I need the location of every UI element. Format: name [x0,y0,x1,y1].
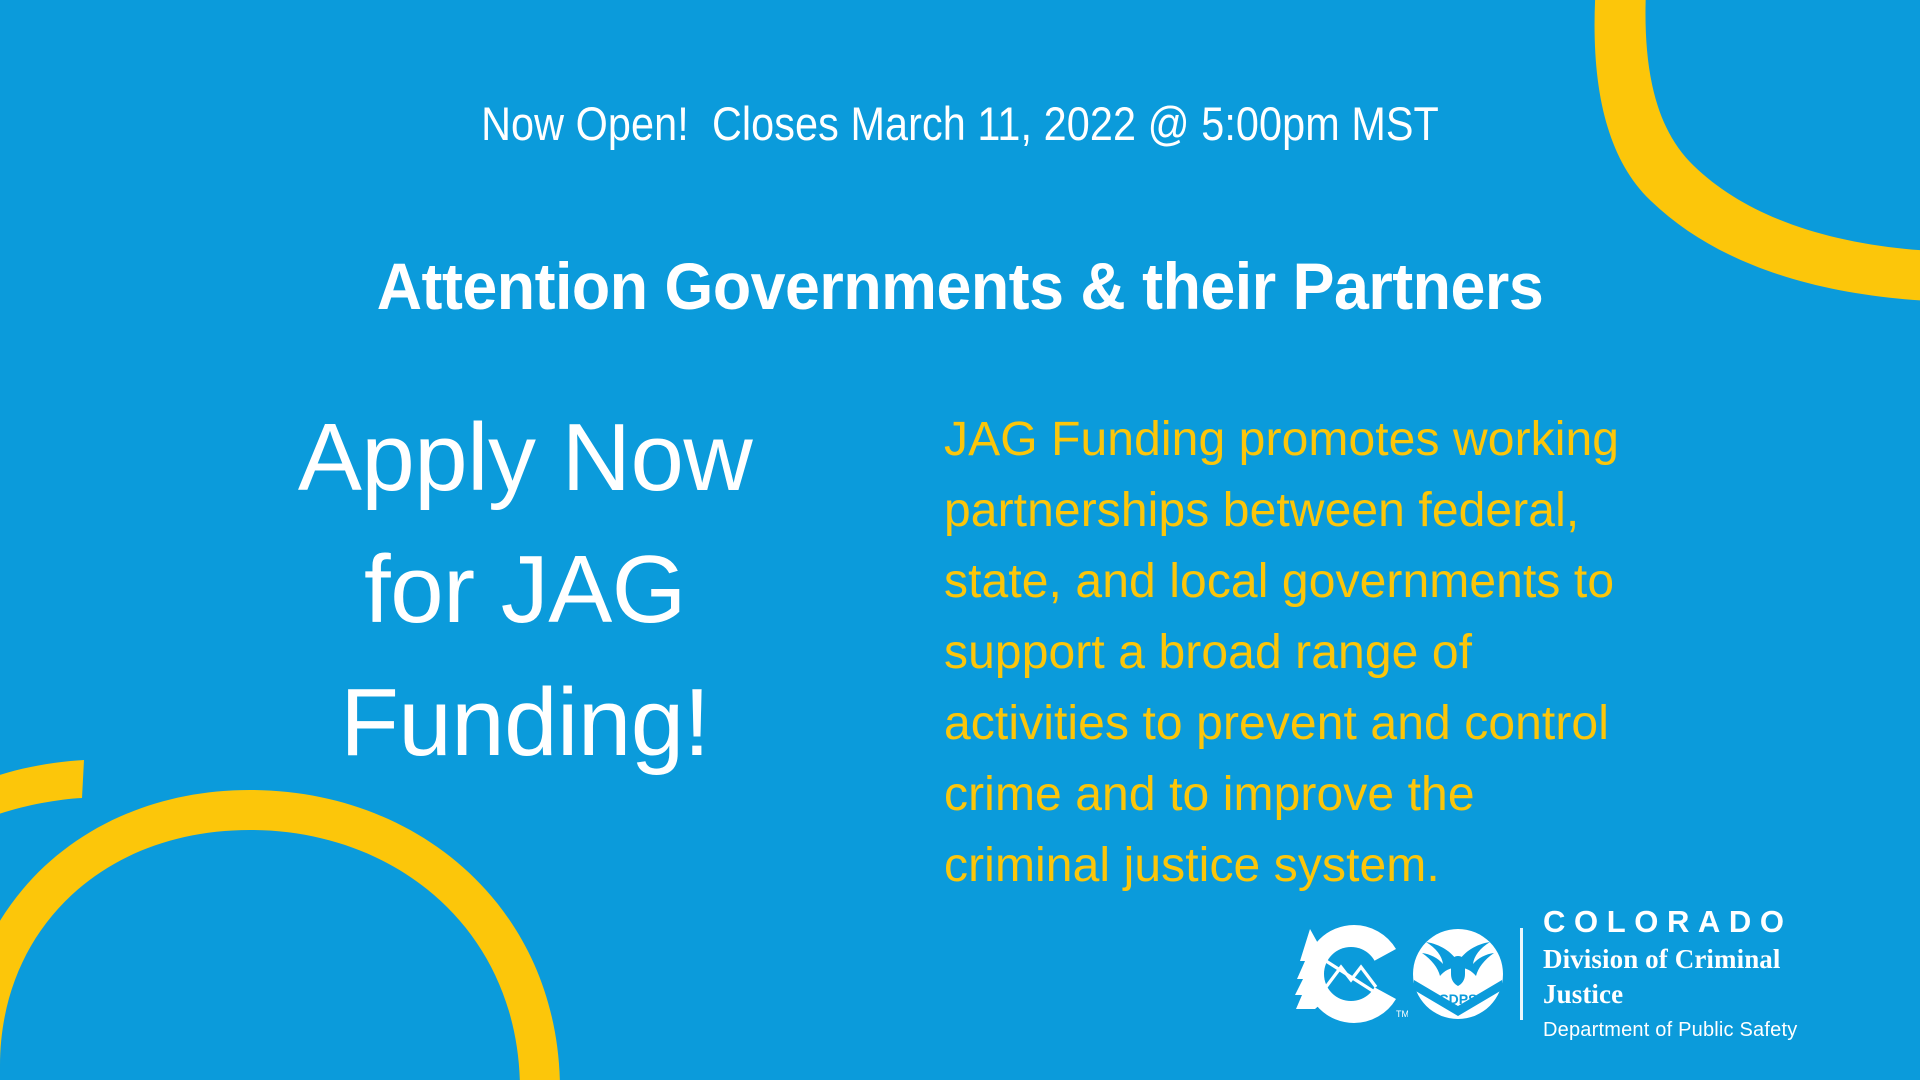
logo-department-name: Department of Public Safety [1543,1017,1798,1043]
logo-division-name: Division of Criminal Justice [1543,942,1798,1012]
description-line-7: criminal justice system. [944,830,1734,901]
agency-logo-lockup: TM CDPS COLORADO Division of Criminal Ju… [1288,918,1798,1030]
logo-text-block: COLORADO Division of Criminal Justice De… [1543,905,1798,1043]
cta-line-2: for JAG [180,524,870,656]
deadline-banner-text: Now Open! Closes March 11, 2022 @ 5:00pm… [115,96,1805,151]
logo-state-name: COLORADO [1543,905,1798,940]
description-line-3: state, and local governments to [944,546,1734,617]
description-line-5: activities to prevent and control [944,688,1734,759]
description-line-6: crime and to improve the [944,759,1734,830]
body-columns: Apply Now for JAG Funding! JAG Funding p… [0,392,1920,912]
cta-line-1: Apply Now [180,392,870,524]
colorado-c-logo-icon: TM [1288,923,1408,1025]
cdps-seal-icon: CDPS [1412,928,1504,1020]
description-line-2: partnerships between federal, [944,475,1734,546]
cdps-seal-label: CDPS [1439,991,1478,1007]
logo-divider [1520,928,1523,1020]
trademark-mark: TM [1396,1009,1408,1019]
apply-now-callout: Apply Now for JAG Funding! [180,392,870,789]
page-title: Attention Governments & their Partners [48,248,1872,324]
jag-funding-promo-graphic: Now Open! Closes March 11, 2022 @ 5:00pm… [0,0,1920,1080]
jag-description-paragraph: JAG Funding promotes working partnership… [944,404,1734,901]
description-line-1: JAG Funding promotes working [944,404,1734,475]
description-line-4: support a broad range of [944,617,1734,688]
cta-line-3: Funding! [180,657,870,789]
